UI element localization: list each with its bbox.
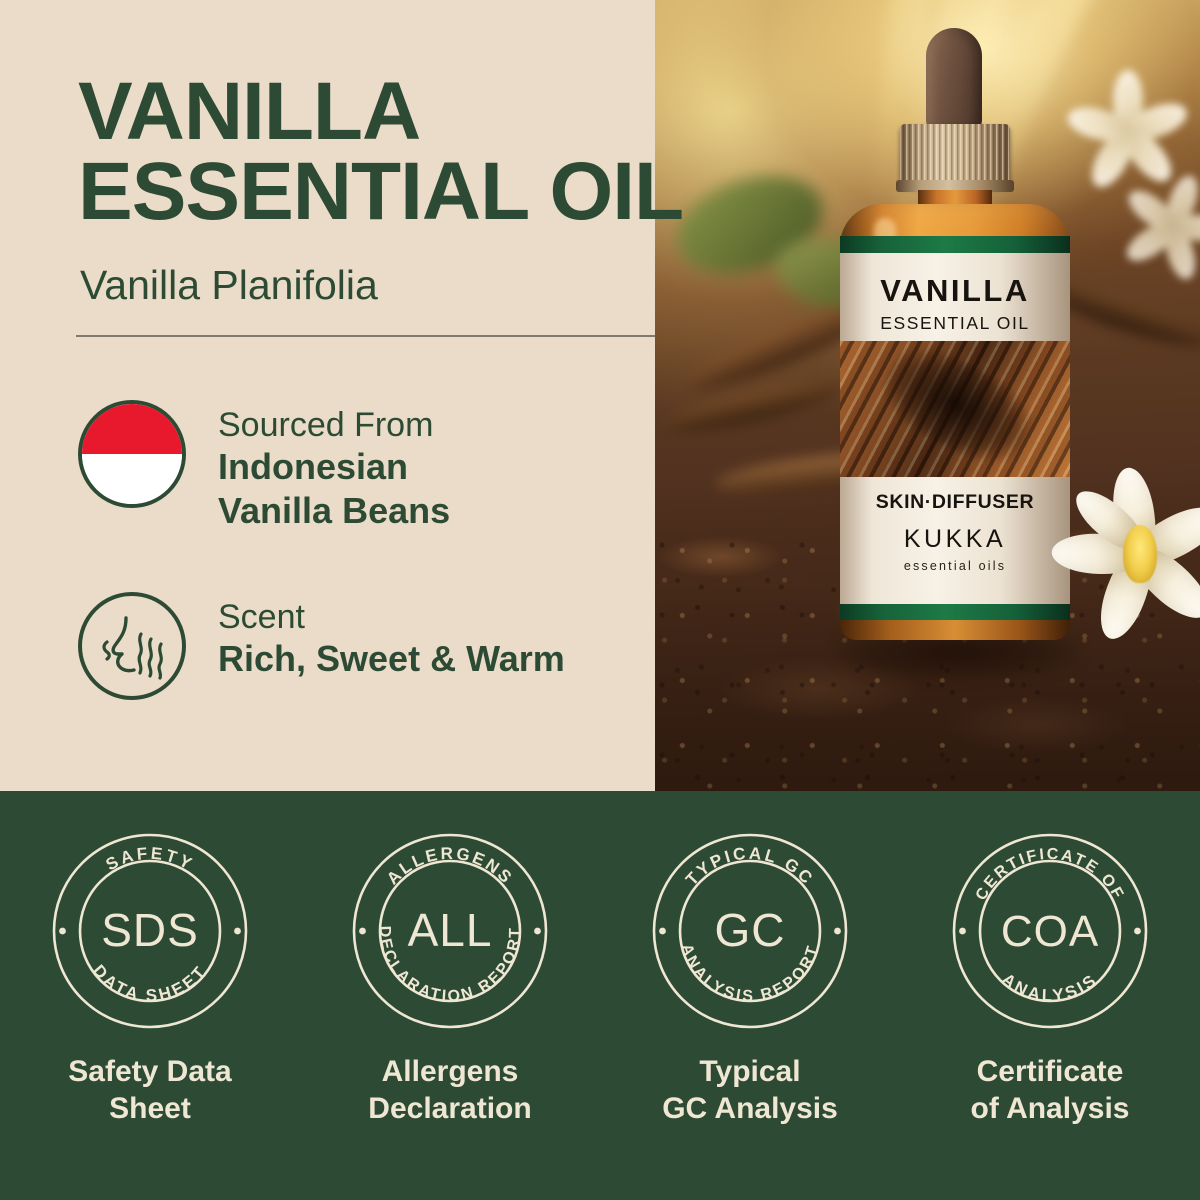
badge-allergens[interactable]: ALLERGENS DECLARATION REPORT ALL Allerge…	[300, 791, 600, 1127]
badge-seal-icon: CERTIFICATE OF ANALYSIS COA	[950, 831, 1150, 1031]
badge-caption: Allergens Declaration	[368, 1053, 531, 1127]
badge-gc[interactable]: TYPICAL GC ANALYSIS REPORT GC Typical GC…	[600, 791, 900, 1127]
badge-seal-icon: TYPICAL GC ANALYSIS REPORT GC	[650, 831, 850, 1031]
label-stripe-bottom	[840, 604, 1070, 620]
bottle-label-title: VANILLA	[840, 273, 1070, 309]
badge-caption: Certificate of Analysis	[971, 1053, 1130, 1127]
feature-value: Indonesian Vanilla Beans	[218, 445, 450, 533]
badge-abbr: SDS	[101, 904, 199, 956]
indonesia-flag-icon	[78, 400, 186, 508]
bottle-label: VANILLA ESSENTIAL OIL SKIN·DIFFUSER KUKK…	[840, 253, 1070, 604]
badge-arc-top: TYPICAL GC	[682, 844, 818, 890]
vanilla-flower-icon	[1040, 455, 1200, 655]
svg-text:ALLERGENS: ALLERGENS	[383, 844, 517, 889]
svg-text:CERTIFICATE OF: CERTIFICATE OF	[973, 846, 1128, 904]
feature-text: Scent Rich, Sweet & Warm	[218, 592, 565, 681]
badge-arc-top: SAFETY	[103, 844, 198, 875]
badge-caption: Safety Data Sheet	[68, 1053, 231, 1127]
feature-label: Scent	[218, 598, 565, 637]
documents-section: SAFETY DATA SHEET SDS Safety Data Sheet	[0, 791, 1200, 1200]
background-flower	[1110, 165, 1200, 295]
hero-section: VANILLA ESSENTIAL OIL SKIN·DIFFUSER KUKK…	[0, 0, 1200, 791]
badge-sds[interactable]: SAFETY DATA SHEET SDS Safety Data Sheet	[0, 791, 300, 1127]
page-title: Vanilla Essential Oil	[78, 72, 798, 231]
svg-text:TYPICAL GC: TYPICAL GC	[682, 844, 818, 890]
feature-label: Sourced From	[218, 406, 450, 445]
dropper-bulb	[926, 28, 982, 132]
bottle-label-subtitle: ESSENTIAL OIL	[840, 313, 1070, 334]
product-infographic: VANILLA ESSENTIAL OIL SKIN·DIFFUSER KUKK…	[0, 0, 1200, 1200]
feature-sourced-from: Sourced From Indonesian Vanilla Beans	[78, 400, 450, 533]
scent-nose-icon	[78, 592, 186, 700]
badge-arc-top: ALLERGENS	[383, 844, 517, 889]
badge-arc-bottom: DATA SHEET	[89, 961, 211, 1005]
badge-abbr: COA	[1001, 907, 1099, 956]
bottle-cap	[900, 124, 1010, 186]
badge-seal-icon: SAFETY DATA SHEET SDS	[50, 831, 250, 1031]
badge-arc-top: CERTIFICATE OF	[973, 846, 1128, 904]
feature-scent: Scent Rich, Sweet & Warm	[78, 592, 565, 700]
badge-coa[interactable]: CERTIFICATE OF ANALYSIS COA Certificate …	[900, 791, 1200, 1127]
divider	[76, 335, 656, 337]
badge-seal-icon: ALLERGENS DECLARATION REPORT ALL	[350, 831, 550, 1031]
bottle-label-brand: KUKKA	[840, 525, 1070, 554]
svg-text:ANALYSIS: ANALYSIS	[998, 970, 1101, 1006]
bottle-label-bean-image	[840, 341, 1070, 477]
bottle-base	[840, 620, 1070, 640]
svg-text:DATA SHEET: DATA SHEET	[89, 961, 211, 1005]
label-stripe-top	[840, 236, 1070, 253]
feature-value: Rich, Sweet & Warm	[218, 637, 565, 681]
feature-text: Sourced From Indonesian Vanilla Beans	[218, 400, 450, 533]
bottle-label-usage: SKIN·DIFFUSER	[840, 491, 1070, 514]
badge-row: SAFETY DATA SHEET SDS Safety Data Sheet	[0, 791, 1200, 1127]
bottle-label-brand-tagline: essential oils	[840, 559, 1070, 573]
badge-abbr: GC	[715, 904, 786, 956]
page-subtitle: Vanilla Planifolia	[80, 262, 378, 309]
badge-arc-bottom: ANALYSIS	[998, 970, 1101, 1006]
badge-abbr: ALL	[408, 904, 493, 956]
badge-caption: Typical GC Analysis	[662, 1053, 838, 1127]
svg-text:SAFETY: SAFETY	[103, 844, 198, 875]
